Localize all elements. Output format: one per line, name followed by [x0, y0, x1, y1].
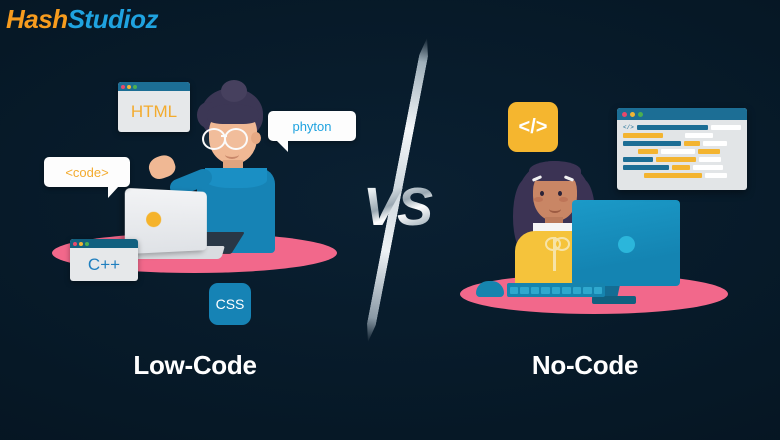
cpp-window-badge[interactable]: C++ [70, 239, 138, 281]
code-line [623, 173, 741, 178]
code-token [623, 157, 653, 162]
laptop-logo-icon [146, 212, 161, 228]
code-tag-icon: </> [623, 125, 634, 130]
code-speech-bubble[interactable]: <code> [44, 157, 130, 187]
keyboard-key[interactable] [594, 287, 602, 294]
code-token [638, 149, 658, 154]
code-line [623, 157, 741, 162]
left-caption: Low-Code [0, 350, 390, 381]
code-token [644, 173, 702, 178]
code-token [623, 149, 635, 154]
html-window-badge[interactable]: HTML [118, 82, 190, 132]
code-token [661, 149, 695, 154]
code-token [699, 157, 721, 162]
bubble-tail [108, 186, 119, 198]
code-token [703, 141, 727, 146]
keyboard-key[interactable] [520, 287, 528, 294]
close-dot-icon [73, 242, 77, 246]
monitor-foot [592, 296, 636, 304]
code-token [637, 125, 708, 130]
code-line: </> [623, 125, 741, 130]
code-tag-tile-badge[interactable]: </> [508, 102, 558, 152]
code-token [698, 149, 720, 154]
code-token [685, 133, 713, 138]
code-token [666, 133, 682, 138]
keyboard-key[interactable] [531, 287, 539, 294]
minimize-dot-icon [127, 85, 131, 89]
minimize-dot-icon [630, 112, 635, 117]
close-dot-icon [622, 112, 627, 117]
mouse[interactable] [476, 281, 504, 297]
maximize-dot-icon [133, 85, 137, 89]
glasses-right-lens [224, 128, 248, 150]
bubble-tail [276, 140, 288, 152]
code-token [623, 165, 669, 170]
keyboard-key[interactable] [510, 287, 518, 294]
code-token [705, 173, 727, 178]
monitor-power-icon [618, 236, 635, 253]
code-line [623, 141, 741, 146]
code-line [623, 133, 741, 138]
keyboard-key[interactable] [552, 287, 560, 294]
code-token [656, 157, 696, 162]
monitor-screen [572, 200, 680, 286]
window-title-bar [617, 108, 747, 120]
css-label: CSS [216, 296, 245, 312]
python-speech-bubble[interactable]: phyton [268, 111, 356, 141]
code-lines: </> [617, 120, 747, 182]
keyboard-key[interactable] [562, 287, 570, 294]
poster-canvas: HashStudioz [0, 0, 780, 440]
code-token [693, 165, 723, 170]
cpp-label: C++ [88, 255, 120, 275]
minimize-dot-icon [79, 242, 83, 246]
html-label: HTML [131, 102, 177, 122]
code-token [672, 165, 690, 170]
code-token [623, 173, 641, 178]
keyboard-key[interactable] [573, 287, 581, 294]
keyboard-key[interactable] [583, 287, 591, 294]
python-bubble-label: phyton [292, 119, 331, 134]
code-token [623, 141, 681, 146]
code-line [623, 165, 741, 170]
css-tile-badge[interactable]: CSS [209, 283, 251, 325]
code-tag-label: </> [519, 116, 548, 139]
window-title-bar [70, 239, 138, 248]
maximize-dot-icon [638, 112, 643, 117]
glasses-left-lens [202, 128, 226, 150]
code-token [623, 133, 663, 138]
close-dot-icon [121, 85, 125, 89]
code-bubble-label: <code> [65, 165, 108, 180]
right-caption: No-Code [390, 350, 780, 381]
keyboard[interactable] [507, 283, 605, 297]
window-title-bar [118, 82, 190, 91]
code-token [711, 125, 741, 130]
code-editor-window[interactable]: </> [617, 108, 747, 190]
code-token [684, 141, 700, 146]
code-line [623, 149, 741, 154]
maximize-dot-icon [85, 242, 89, 246]
left-panel: HTML C++ <code> phyton CSS [0, 0, 390, 440]
keyboard-key[interactable] [541, 287, 549, 294]
